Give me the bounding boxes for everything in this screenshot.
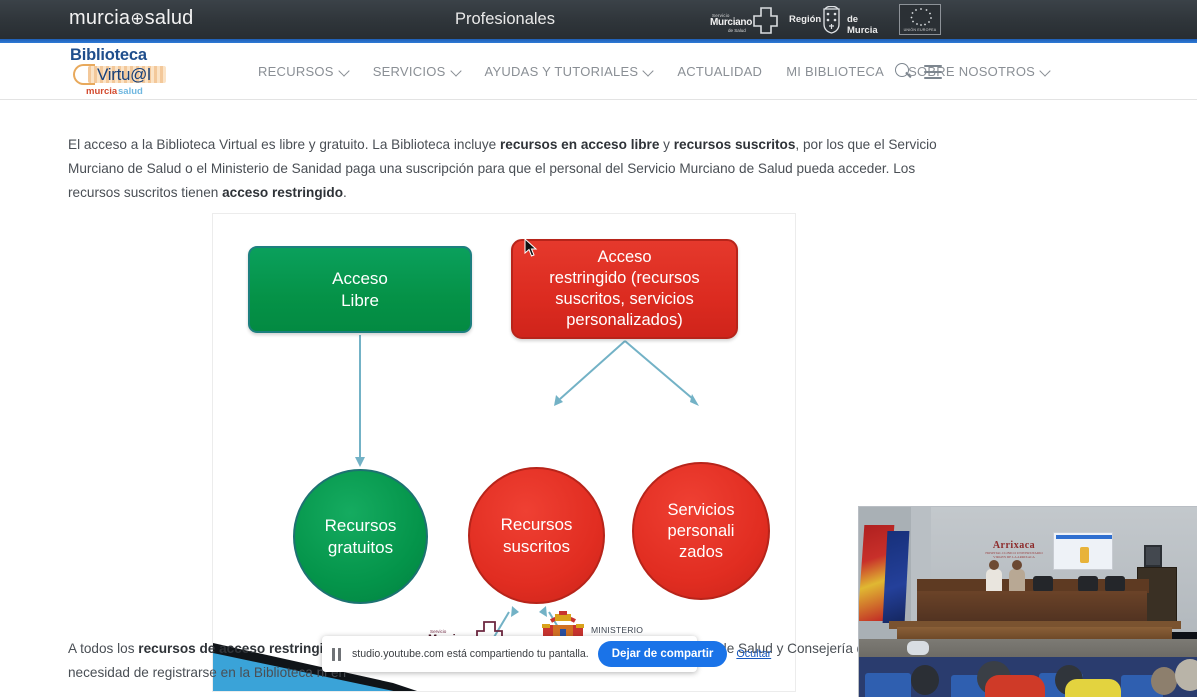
- bottom-text-1: A todos los: [68, 641, 138, 656]
- diagram-box-acceso-libre: Acceso Libre: [248, 246, 472, 333]
- wc-chair: [1105, 576, 1125, 592]
- intro-text-4: .: [343, 185, 347, 200]
- circle-green-line1: Recursos: [325, 515, 397, 537]
- nav-item-recursos[interactable]: RECURSOS: [258, 43, 361, 100]
- sms-logo-line3: de Salud: [728, 28, 746, 33]
- diagram-circle-text: Servicios personali zados: [668, 500, 735, 563]
- box-green-line2: Libre: [332, 290, 388, 312]
- wc-chair: [1078, 576, 1098, 592]
- nav-item-label: AYUDAS Y TUTORIALES: [485, 64, 639, 79]
- wc-seat: [865, 673, 911, 697]
- hamburger-line: [924, 65, 942, 67]
- profesionales-label[interactable]: Profesionales: [455, 10, 555, 29]
- diagram-circle-recursos-gratuitos: Recursos gratuitos: [293, 469, 428, 604]
- nav-item-actualidad[interactable]: ACTUALIDAD: [665, 43, 774, 100]
- diagram-canvas: Acceso Libre Acceso restringido (recurso…: [213, 214, 796, 692]
- wc-projection-screen: [1053, 532, 1113, 570]
- nav-item-label: MI BIBLIOTECA: [786, 64, 884, 79]
- hide-link[interactable]: Ocultar: [736, 648, 771, 660]
- servicio-murciano-salud-logo: Servicio Murciano de Salud: [710, 4, 780, 36]
- wc-speaker-1: [986, 569, 1002, 593]
- diagram-box-acceso-restringido: Acceso restringido (recursos suscritos, …: [511, 239, 738, 339]
- circle-red2-line3: zados: [668, 542, 735, 563]
- intro-bold-acceso-libre: recursos en acceso libre: [500, 137, 659, 152]
- circle-red1-line1: Recursos: [501, 514, 573, 536]
- box-red-line1: Acceso: [549, 247, 699, 268]
- nav-item-mi-biblioteca[interactable]: MI BIBLIOTECA: [774, 43, 896, 100]
- biblioteca-virtual-logo[interactable]: Biblioteca Virtu@l murcia salud: [68, 46, 193, 98]
- nav-actions: [895, 43, 942, 100]
- stop-sharing-button[interactable]: Dejar de compartir: [598, 641, 728, 667]
- nav-item-label: RECURSOS: [258, 64, 334, 79]
- site-nav-bar: Biblioteca Virtu@l murcia salud RECURSOS…: [0, 43, 1197, 100]
- murciasalud-logo[interactable]: murcia⊕salud: [69, 7, 193, 30]
- pause-bar: [338, 648, 341, 661]
- webcam-video-overlay[interactable]: Arrixaca HOSPITAL CLINICO UNIVERSITARIO …: [858, 506, 1197, 697]
- box-red-line4: personalizados): [549, 310, 699, 331]
- share-message: studio.youtube.com está compartiendo tu …: [352, 648, 589, 660]
- wc-audience-arm: [907, 641, 929, 655]
- intro-paragraph: El acceso a la Biblioteca Virtual es lib…: [68, 133, 948, 205]
- intro-text-2: y: [659, 137, 673, 152]
- circle-red2-line2: personali: [668, 521, 735, 542]
- intro-bold-acceso-restringido: acceso restringido: [222, 185, 343, 200]
- hamburger-line: [924, 77, 942, 79]
- murciasalud-logo-left: murcia: [69, 7, 130, 29]
- wc-arrixaca-subtext: HOSPITAL CLINICO UNIVERSITARIO VIRGEN DE…: [985, 551, 1043, 559]
- sms-logo-line2: Murciano: [710, 17, 752, 28]
- site-top-bar: murcia⊕salud Profesionales Servicio Murc…: [0, 0, 1197, 39]
- diagram-circle-text: Recursos suscritos: [501, 514, 573, 558]
- pause-bar: [332, 648, 335, 661]
- intro-text-1: El acceso a la Biblioteca Virtual es lib…: [68, 137, 500, 152]
- eu-caption: UNIÓN EUROPEA: [900, 28, 940, 32]
- box-green-line1: Acceso: [332, 268, 388, 290]
- ministerio-line1: MINISTERIO: [591, 625, 646, 636]
- wc-audience-head: [1175, 659, 1197, 691]
- wc-wall-frame: [1144, 545, 1162, 567]
- wc-screen-bar: [1056, 535, 1112, 539]
- hamburger-icon[interactable]: [924, 65, 942, 79]
- wc-chair: [1033, 576, 1053, 592]
- region-de-murcia-logo: Región de Murcia: [789, 5, 884, 35]
- wc-audience-area: [859, 657, 1197, 697]
- wc-screen-mark: [1080, 547, 1089, 563]
- nav-item-ayudas-y-tutoriales[interactable]: AYUDAS Y TUTORIALES: [473, 43, 666, 100]
- wc-speaker-2: [1009, 569, 1025, 593]
- eu-stars-icon: [900, 5, 942, 28]
- chevron-down-icon: [452, 67, 461, 76]
- cross-icon: [752, 7, 778, 34]
- intro-bold-recursos-suscritos: recursos suscritos: [674, 137, 796, 152]
- circle-red2-line1: Servicios: [668, 500, 735, 521]
- crown-shield-icon: [821, 6, 842, 34]
- wc-arrixaca-text: Arrixaca: [993, 540, 1035, 551]
- wc-audience-head: [1151, 667, 1177, 695]
- access-diagram-image: Acceso Libre Acceso restringido (recurso…: [212, 213, 796, 692]
- mouse-cursor: [524, 238, 538, 258]
- diagram-box-text: Acceso Libre: [332, 268, 388, 312]
- circle-green-line2: gratuitos: [325, 537, 397, 559]
- pause-icon: [332, 648, 343, 661]
- diagram-box-text: Acceso restringido (recursos suscritos, …: [549, 247, 699, 331]
- logo-line-murcia: murcia: [86, 86, 117, 97]
- circle-red1-line2: suscritos: [501, 536, 573, 558]
- region-word: Región: [789, 14, 821, 25]
- chevron-down-icon: [644, 67, 653, 76]
- nav-item-label: ACTUALIDAD: [677, 64, 762, 79]
- box-red-line2: restringido (recursos: [549, 268, 699, 289]
- bottom-text-3: necesidad de registrarse en la Bibliotec…: [68, 665, 346, 680]
- wc-audience-body: [985, 675, 1045, 697]
- diagram-circle-text: Recursos gratuitos: [325, 515, 397, 559]
- nav-item-label: SERVICIOS: [373, 64, 446, 79]
- nav-item-servicios[interactable]: SERVICIOS: [361, 43, 473, 100]
- box-red-line3: suscritos, servicios: [549, 289, 699, 310]
- de-murcia-word: de Murcia: [847, 14, 884, 36]
- chevron-down-icon: [1041, 67, 1050, 76]
- logo-line-biblioteca: Biblioteca: [70, 46, 147, 65]
- murciasalud-logo-glyph: ⊕: [130, 9, 144, 28]
- diagram-circle-servicios-personalizados: Servicios personali zados: [632, 462, 770, 600]
- union-europea-logo: UNIÓN EUROPEA: [899, 4, 941, 35]
- murciasalud-logo-right: salud: [145, 7, 194, 29]
- logo-line-salud: salud: [118, 86, 143, 97]
- hamburger-line: [924, 71, 942, 73]
- logo-arc-decoration: [73, 64, 95, 85]
- wc-arrixaca-wall-logo: Arrixaca HOSPITAL CLINICO UNIVERSITARIO …: [985, 540, 1043, 560]
- search-icon[interactable]: [895, 63, 912, 80]
- logo-line-virtual: Virtu@l: [97, 65, 151, 85]
- chevron-down-icon: [340, 67, 349, 76]
- screen-share-notification: studio.youtube.com está compartiendo tu …: [322, 636, 697, 672]
- diagram-circle-recursos-suscritos: Recursos suscritos: [468, 467, 605, 604]
- wc-audience-body: [1065, 679, 1121, 697]
- wc-audience-head: [911, 665, 939, 695]
